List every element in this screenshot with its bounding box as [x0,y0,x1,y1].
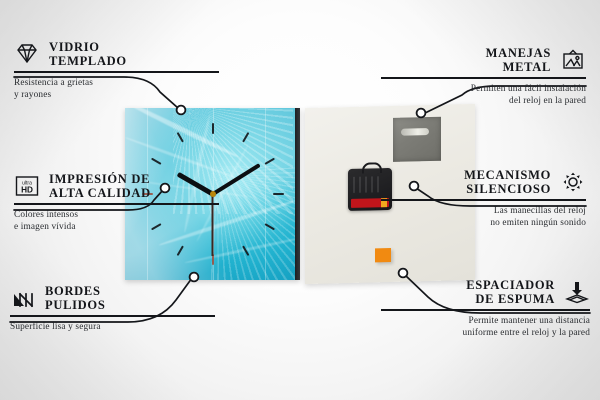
hanger-slot [401,128,429,136]
movement-texture [353,176,383,193]
infographic-canvas: VIDRIOTEMPLADO Resistencia a grietasy ra… [0,0,600,400]
svg-text:HD: HD [21,185,33,194]
callout-tempered-glass: VIDRIOTEMPLADO Resistencia a grietasy ra… [14,40,219,101]
callout-header: ESPACIADORDE ESPUMA [381,278,590,306]
callout-header: MANEJASMETAL [381,46,586,74]
picture-frame-hanger-icon [560,48,586,72]
callout-header: VIDRIOTEMPLADO [14,40,219,68]
callout-header: BORDESPULIDOS [10,284,215,312]
callout-polished-edges: BORDESPULIDOS Superficie lisa y segura [10,284,215,333]
polished-edges-icon [10,286,36,310]
callout-title: VIDRIOTEMPLADO [49,40,127,68]
callout-subtitle: Permiten una fácil instalacióndel reloj … [381,83,586,107]
callout-title: MANEJASMETAL [486,46,551,74]
callout-subtitle: Colores intensose imagen vívida [14,209,219,233]
foam-spacer-pad [375,248,391,262]
foam-spacer-icon [564,280,590,304]
clock-side-edge [295,108,300,280]
callout-silent-mechanism: MECANISMOSILENCIOSO Las manecillas del r… [381,168,586,229]
callout-title: BORDESPULIDOS [45,284,105,312]
callout-divider [381,309,590,311]
callout-subtitle: Superficie lisa y segura [10,321,215,333]
callout-foam-spacer: ESPACIADORDE ESPUMA Permite mantener una… [381,278,590,339]
callout-title: IMPRESIÓN DEALTA CALIDAD [49,172,151,200]
metal-hanger-plate [393,117,441,162]
ultra-hd-icon: ultra HD [14,174,40,198]
diamond-icon [14,42,40,66]
callout-divider [14,203,219,205]
callout-subtitle: Permite mantener una distanciauniforme e… [381,315,590,339]
callout-title: ESPACIADORDE ESPUMA [466,278,555,306]
callout-high-quality-print: ultra HD IMPRESIÓN DEALTA CALIDAD Colore… [14,172,219,233]
callout-divider [14,71,219,73]
callout-subtitle: Resistencia a grietasy rayones [14,77,219,101]
callout-divider [381,77,586,79]
callout-divider [10,315,215,317]
movement-hanging-loop [362,162,382,173]
callout-metal-handles: MANEJASMETAL Permiten una fácil instalac… [381,46,586,107]
callout-header: MECANISMOSILENCIOSO [381,168,586,196]
callout-header: ultra HD IMPRESIÓN DEALTA CALIDAD [14,172,219,200]
callout-title: MECANISMOSILENCIOSO [464,168,551,196]
gear-icon [560,170,586,194]
callout-subtitle: Las manecillas del relojno emiten ningún… [381,205,586,229]
callout-divider [381,199,586,201]
